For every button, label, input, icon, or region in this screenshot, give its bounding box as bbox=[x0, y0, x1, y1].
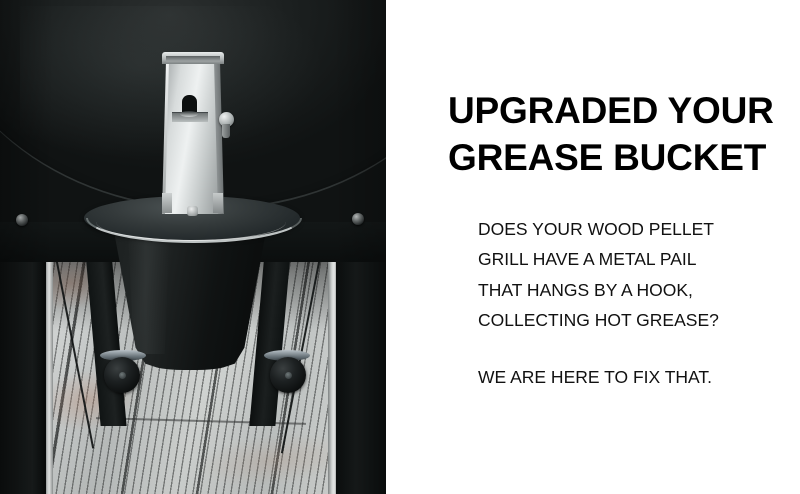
chute-center-boss bbox=[187, 206, 198, 216]
body-closing-line: WE ARE HERE TO FIX THAT. bbox=[478, 362, 778, 392]
grill-leg-outer-right bbox=[336, 236, 386, 494]
caster-hub bbox=[119, 372, 126, 379]
advertisement-banner: UPGRADED YOUR GREASE BUCKET DOES YOUR WO… bbox=[0, 0, 800, 494]
body-line-4: COLLECTING HOT GREASE? bbox=[478, 305, 778, 335]
chute-screw-stem bbox=[222, 124, 230, 138]
metal-grease-chute bbox=[164, 58, 222, 214]
caster-hub bbox=[285, 372, 292, 379]
product-photo bbox=[0, 0, 386, 494]
headline: UPGRADED YOUR GREASE BUCKET bbox=[448, 88, 798, 182]
body-line-3: THAT HANGS BY A HOOK, bbox=[478, 275, 778, 305]
body-line-2: GRILL HAVE A METAL PAIL bbox=[478, 244, 778, 274]
cabinet-bolt-right bbox=[352, 213, 364, 225]
body-copy: DOES YOUR WOOD PELLET GRILL HAVE A METAL… bbox=[478, 214, 778, 392]
chute-foot-right bbox=[213, 193, 223, 213]
chute-top-lip bbox=[166, 56, 220, 61]
cabinet-bolt-left bbox=[16, 214, 28, 226]
chute-foot-left bbox=[162, 193, 172, 213]
chute-hook bbox=[180, 111, 198, 117]
text-panel: UPGRADED YOUR GREASE BUCKET DOES YOUR WO… bbox=[386, 0, 800, 494]
grill-leg-outer-left bbox=[0, 236, 46, 494]
headline-line-1: UPGRADED YOUR bbox=[448, 88, 798, 135]
headline-line-2: GREASE BUCKET bbox=[448, 135, 798, 182]
body-line-1: DOES YOUR WOOD PELLET bbox=[478, 214, 778, 244]
